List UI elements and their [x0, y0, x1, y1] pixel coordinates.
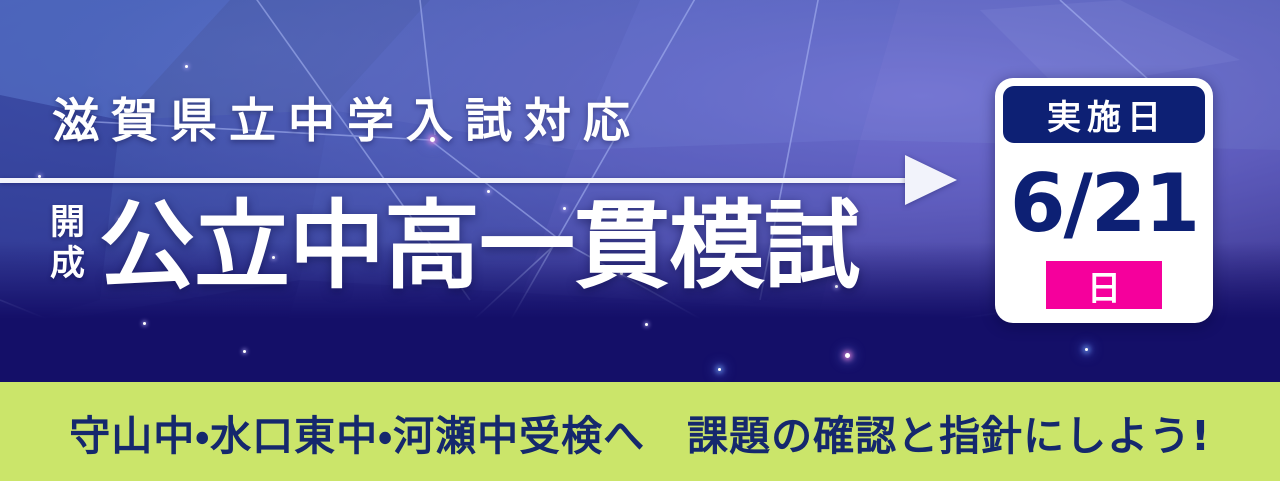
date-badge-weekday: 日 [1046, 261, 1162, 309]
date-badge: 実施日 6/21 日 [995, 78, 1213, 323]
brand-char-1: 開 [50, 203, 85, 244]
headline-block: 滋賀県立中学入試対応 開 成 公立中高一貫模試 [0, 0, 1000, 382]
divider-line [0, 178, 916, 183]
brand-char-2: 成 [50, 244, 85, 285]
sparkle-dot [1085, 348, 1088, 351]
right-arrow-icon [905, 155, 957, 205]
date-badge-date: 6/21 [1010, 143, 1198, 261]
date-badge-header: 実施日 [1003, 86, 1205, 143]
title-row: 開 成 公立中高一貫模試 [50, 198, 859, 294]
footer-strip: 守山中・水口東中・河瀬中受検へ 課題の確認と指針にしよう! [0, 382, 1280, 481]
footer-strip-text: 守山中・水口東中・河瀬中受検へ 課題の確認と指針にしよう! [69, 402, 1211, 462]
kicker-text: 滋賀県立中学入試対応 [52, 98, 642, 145]
page-title: 公立中高一貫模試 [99, 198, 859, 294]
promo-banner: 滋賀県立中学入試対応 開 成 公立中高一貫模試 実施日 6/21 日 守山中・水… [0, 0, 1280, 481]
brand-mark: 開 成 [50, 203, 85, 288]
